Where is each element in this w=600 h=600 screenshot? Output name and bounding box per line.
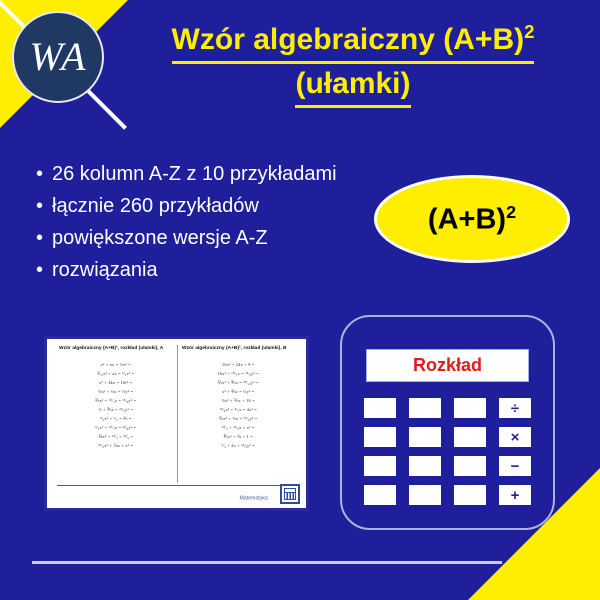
formula-badge: (A+B)2 <box>374 175 570 263</box>
bullet-icon: • <box>30 224 52 253</box>
calculator-key-minus[interactable]: − <box>499 456 531 476</box>
calculator-display-text: Rozkład <box>413 355 482 376</box>
calculator-key[interactable] <box>409 456 441 476</box>
worksheet-preview: Wzór algebraiczny (A+B)², rozkład (ułamk… <box>44 336 309 511</box>
calculator-key[interactable] <box>364 485 396 505</box>
calculator-key[interactable] <box>364 398 396 418</box>
calculator-icon-body <box>284 488 296 500</box>
list-item: • 26 kolumn A-Z z 10 przykładami <box>30 160 350 189</box>
calculator-key[interactable] <box>454 485 486 505</box>
page-title: Wzór algebraiczny (A+B)2 (ułamki) <box>118 20 588 108</box>
worksheet-column-b: Wzór algebraiczny (A+B)², rozkład (ułamk… <box>177 345 299 483</box>
calculator-icon <box>280 484 300 504</box>
worksheet-equation: ⁹⁄₄ + 4x + ²⁵⁄₉y² = <box>167 441 308 452</box>
calculator-key[interactable] <box>409 427 441 447</box>
list-item-label: łącznie 260 przykładów <box>52 192 259 221</box>
page-title-line-1: Wzór algebraiczny (A+B)2 <box>172 20 535 64</box>
calculator-key[interactable] <box>454 456 486 476</box>
bullet-icon: • <box>30 160 52 189</box>
page-title-superscript: 2 <box>524 21 534 42</box>
calculator-key-divide[interactable]: ÷ <box>499 398 531 418</box>
list-item-label: powiększone wersje A-Z <box>52 224 268 253</box>
feature-list: • 26 kolumn A-Z z 10 przykładami • łączn… <box>30 160 350 288</box>
brand-logo-text: WA <box>30 37 87 77</box>
calculator-key-plus[interactable]: + <box>499 485 531 505</box>
list-item-label: rozwiązania <box>52 256 158 285</box>
worksheet-equation: ²⁵⁄₉x² + ⅚x + x² = <box>45 441 187 452</box>
worksheet-footer-rule <box>57 485 296 486</box>
calculator-key[interactable] <box>409 485 441 505</box>
list-item: • rozwiązania <box>30 256 350 285</box>
formula-badge-exponent: 2 <box>506 202 516 222</box>
page-title-line-2: (ułamki) <box>295 64 410 108</box>
bottom-divider <box>32 561 502 564</box>
calculator-key[interactable] <box>454 427 486 447</box>
worksheet-footer-label: Matematyka <box>240 494 268 501</box>
slide-canvas: WA Wzór algebraiczny (A+B)2 (ułamki) • 2… <box>0 0 600 600</box>
calculator-keypad: ÷ × − + <box>358 398 537 505</box>
page-title-line-1-text: Wzór algebraiczny (A+B) <box>172 23 525 56</box>
calculator-key[interactable] <box>364 456 396 476</box>
formula-badge-base: (A+B) <box>428 203 506 235</box>
calculator-key[interactable] <box>364 427 396 447</box>
bullet-icon: • <box>30 256 52 285</box>
calculator-key[interactable] <box>454 398 486 418</box>
list-item: • łącznie 260 przykładów <box>30 192 350 221</box>
worksheet-column-b-header: Wzór algebraiczny (A+B)², rozkład (ułamk… <box>182 345 310 350</box>
worksheet-columns: Wzór algebraiczny (A+B)², rozkład (ułamk… <box>55 345 298 483</box>
formula-badge-text: (A+B)2 <box>428 202 516 237</box>
calculator-graphic: Rozkład ÷ × − + <box>340 315 555 530</box>
brand-logo: WA <box>12 11 104 103</box>
worksheet-column-a: Wzór algebraiczny (A+B)², rozkład (ułamk… <box>55 345 177 483</box>
bullet-icon: • <box>30 192 52 221</box>
calculator-display: Rozkład <box>366 349 529 382</box>
calculator-key[interactable] <box>409 398 441 418</box>
list-item: • powiększone wersje A-Z <box>30 224 350 253</box>
list-item-label: 26 kolumn A-Z z 10 przykładami <box>52 160 337 189</box>
calculator-key-multiply[interactable]: × <box>499 427 531 447</box>
